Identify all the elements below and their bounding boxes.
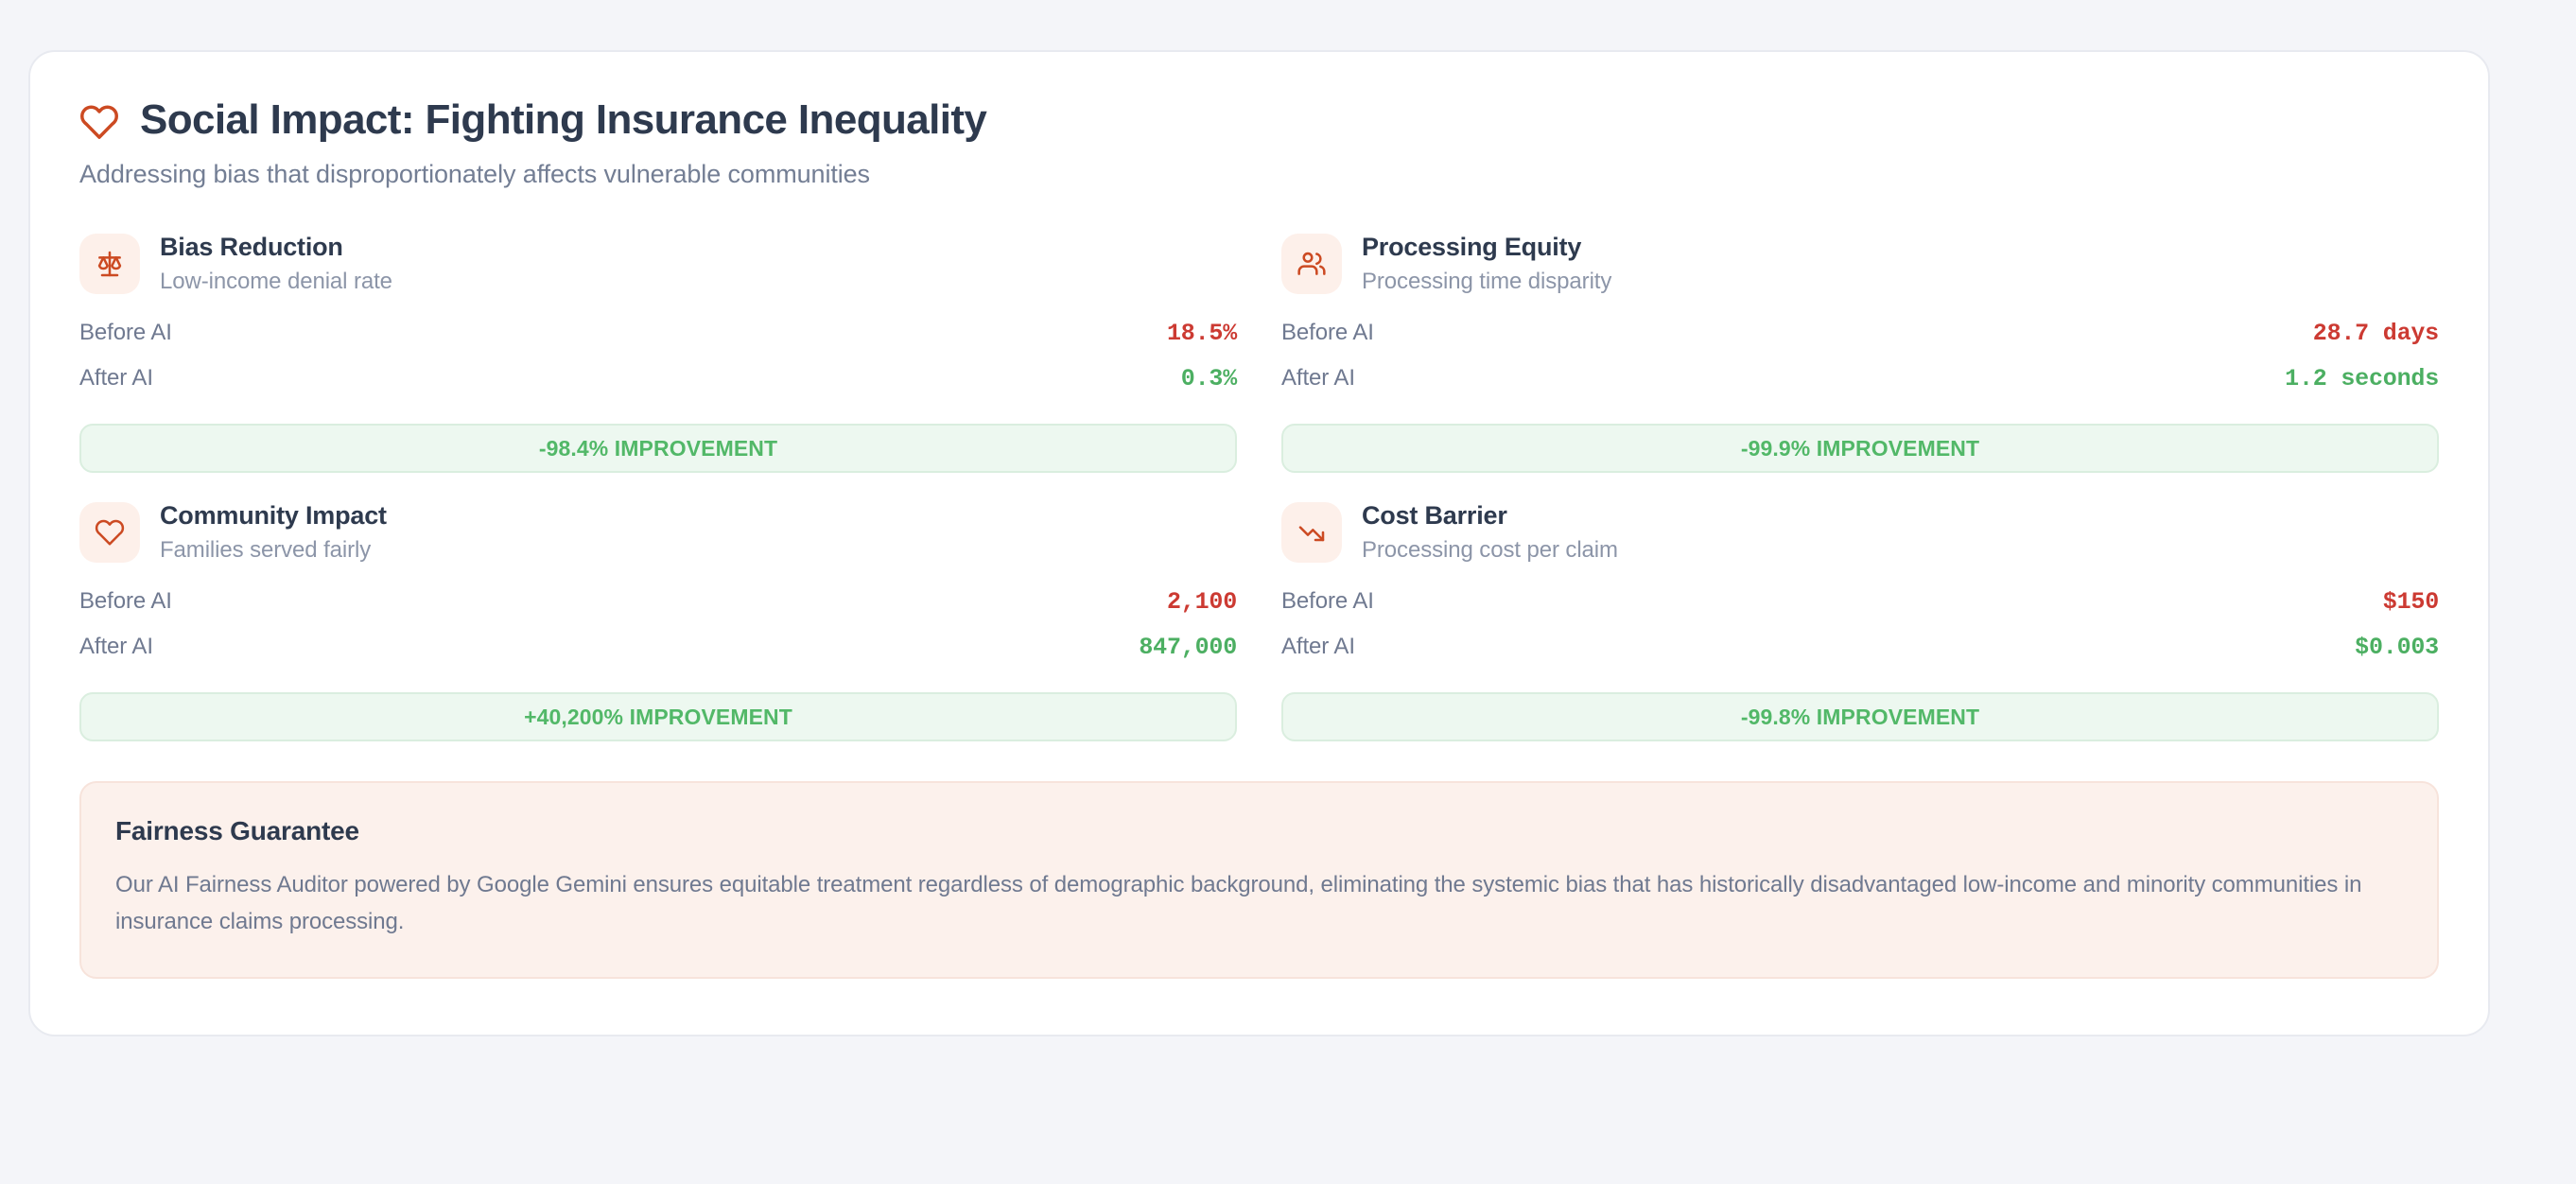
metric-header: Community Impact Families served fairly <box>79 501 1237 564</box>
metric-icon-tile <box>1281 502 1342 563</box>
metric-header: Cost Barrier Processing cost per claim <box>1281 501 2439 564</box>
metric-value-after: 1.2 seconds <box>2285 365 2439 392</box>
metric-row-label-after: After AI <box>1281 634 1355 660</box>
metric-icon-tile <box>79 234 140 294</box>
metric-sublabel: Low-income denial rate <box>160 269 392 295</box>
metric-sublabel: Processing cost per claim <box>1362 537 1618 564</box>
metric-icon-tile <box>79 502 140 563</box>
metric-sublabel: Processing time disparity <box>1362 269 1611 295</box>
improvement-badge: -99.8% IMPROVEMENT <box>1281 692 2439 741</box>
metric-value-before: 28.7 days <box>2313 320 2439 347</box>
metric-rows: Before AI 18.5% After AI 0.3% <box>79 320 1237 410</box>
metric-value-before: 2,100 <box>1167 588 1237 616</box>
metric-card-cost-barrier: Cost Barrier Processing cost per claim B… <box>1281 501 2439 741</box>
metric-card-processing-equity: Processing Equity Processing time dispar… <box>1281 233 2439 473</box>
scales-balance-icon <box>95 249 125 279</box>
heart-icon <box>95 517 125 548</box>
metric-row-label-after: After AI <box>79 365 153 392</box>
panel-header: Social Impact: Fighting Insurance Inequa… <box>79 97 2439 143</box>
social-impact-panel: Social Impact: Fighting Insurance Inequa… <box>28 50 2490 1036</box>
metric-row-before: Before AI 18.5% <box>79 320 1237 365</box>
metrics-grid: Bias Reduction Low-income denial rate Be… <box>79 233 2439 741</box>
improvement-badge: +40,200% IMPROVEMENT <box>79 692 1237 741</box>
metric-label: Cost Barrier <box>1362 501 1618 531</box>
metric-rows: Before AI 28.7 days After AI 1.2 seconds <box>1281 320 2439 410</box>
fairness-guarantee-title: Fairness Guarantee <box>115 816 2403 846</box>
metric-header: Processing Equity Processing time dispar… <box>1281 233 2439 295</box>
metric-label: Bias Reduction <box>160 233 392 262</box>
metric-label: Processing Equity <box>1362 233 1611 262</box>
metric-value-after: 847,000 <box>1139 634 1237 661</box>
page-title: Social Impact: Fighting Insurance Inequa… <box>140 97 986 143</box>
metric-row-label-after: After AI <box>79 634 153 660</box>
metric-row-before: Before AI $150 <box>1281 588 2439 634</box>
improvement-badge: -98.4% IMPROVEMENT <box>79 424 1237 473</box>
metric-card-community-impact: Community Impact Families served fairly … <box>79 501 1237 741</box>
metric-sublabel: Families served fairly <box>160 537 387 564</box>
metric-row-label-before: Before AI <box>79 320 172 346</box>
metric-card-bias-reduction: Bias Reduction Low-income denial rate Be… <box>79 233 1237 473</box>
metric-rows: Before AI 2,100 After AI 847,000 <box>79 588 1237 679</box>
heart-icon <box>79 102 119 142</box>
metric-icon-tile <box>1281 234 1342 294</box>
users-icon <box>1297 249 1327 279</box>
metric-row-before: Before AI 2,100 <box>79 588 1237 634</box>
metric-value-before: $150 <box>2383 588 2439 616</box>
metric-label: Community Impact <box>160 501 387 531</box>
metric-rows: Before AI $150 After AI $0.003 <box>1281 588 2439 679</box>
metric-row-label-before: Before AI <box>1281 320 1374 346</box>
metric-row-after: After AI 0.3% <box>79 365 1237 410</box>
trending-down-icon <box>1297 517 1327 548</box>
metric-row-label-after: After AI <box>1281 365 1355 392</box>
page-subtitle: Addressing bias that disproportionately … <box>79 160 2439 189</box>
metric-row-after: After AI 1.2 seconds <box>1281 365 2439 410</box>
metric-row-label-before: Before AI <box>1281 588 1374 615</box>
metric-header: Bias Reduction Low-income denial rate <box>79 233 1237 295</box>
metric-row-label-before: Before AI <box>79 588 172 615</box>
metric-row-before: Before AI 28.7 days <box>1281 320 2439 365</box>
metric-value-after: $0.003 <box>2355 634 2439 661</box>
metric-value-after: 0.3% <box>1181 365 1237 392</box>
metric-row-after: After AI $0.003 <box>1281 634 2439 679</box>
metric-row-after: After AI 847,000 <box>79 634 1237 679</box>
fairness-guarantee-panel: Fairness Guarantee Our AI Fairness Audit… <box>79 781 2439 979</box>
fairness-guarantee-text: Our AI Fairness Auditor powered by Googl… <box>115 867 2399 941</box>
metric-value-before: 18.5% <box>1167 320 1237 347</box>
improvement-badge: -99.9% IMPROVEMENT <box>1281 424 2439 473</box>
